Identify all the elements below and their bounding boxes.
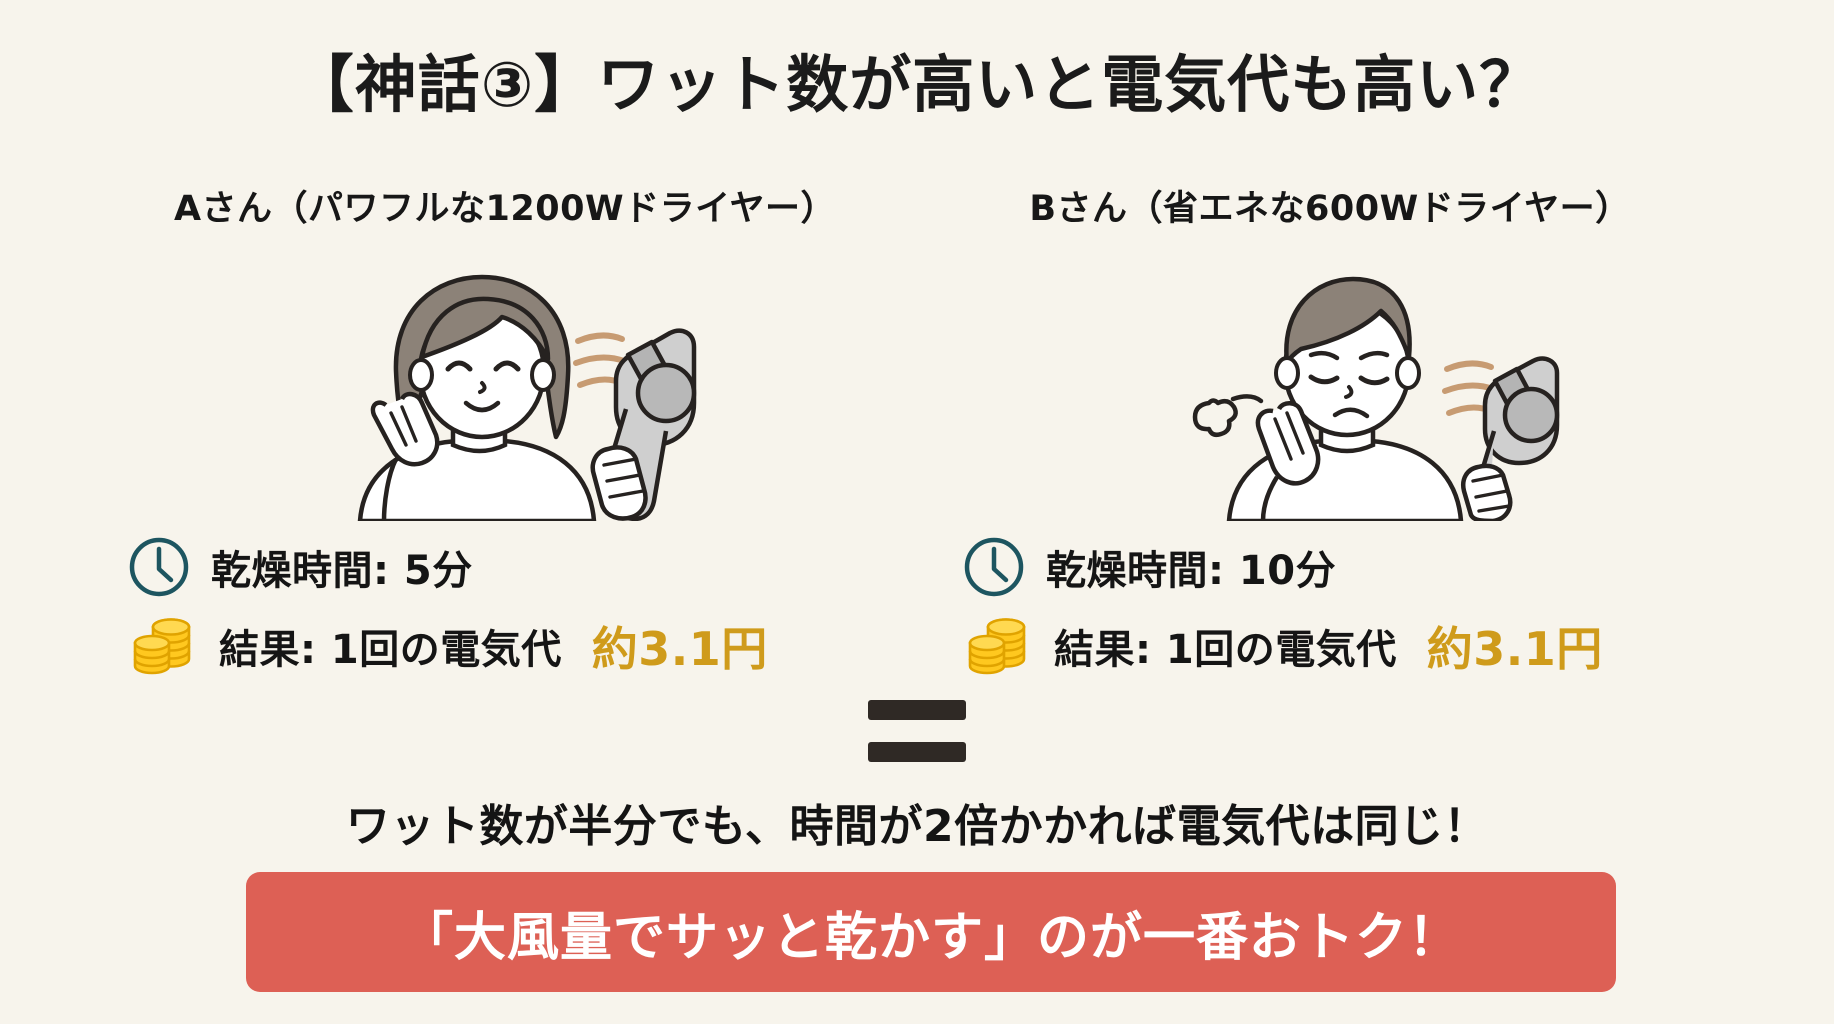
panel-a-cost-amount: 約3.1円 <box>592 613 768 679</box>
infographic-page: 【神話③】ワット数が高いと電気代も高い？ Aさん（パワフルな1200Wドライヤー… <box>0 0 1834 1024</box>
equals-sign-icon <box>868 700 966 762</box>
conclusion-text: ワット数が半分でも、時間が2倍かかれば電気代は同じ！ <box>0 790 1834 854</box>
highlight-banner-text: 「大風量でサッと乾かす」のが一番おトク！ <box>401 895 1461 970</box>
panel-person-a: Aさん（パワフルな1200Wドライヤー） <box>75 180 935 679</box>
panel-b-cost-row: 結果: 1回の電気代 約3.1円 <box>900 613 1760 679</box>
clock-icon <box>127 535 191 599</box>
equals-bar-bottom <box>868 742 966 762</box>
clock-icon <box>962 535 1026 599</box>
panel-b-cost-amount: 約3.1円 <box>1427 613 1603 679</box>
page-title: 【神話③】ワット数が高いと電気代も高い？ <box>0 34 1834 124</box>
panel-a-cost-row: 結果: 1回の電気代 約3.1円 <box>75 613 935 679</box>
panel-b-dry-time-row: 乾燥時間: 10分 <box>900 535 1760 599</box>
woman-with-hairdryer-illustration <box>290 253 720 521</box>
panel-a-cost-label: 結果: 1回の電気代 <box>219 617 562 675</box>
panel-b-cost-label: 結果: 1回の電気代 <box>1054 617 1397 675</box>
panel-a-heading: Aさん（パワフルな1200Wドライヤー） <box>75 180 935 231</box>
panel-b-heading: Bさん（省エネな600Wドライヤー） <box>900 180 1760 231</box>
panel-a-dry-time-row: 乾燥時間: 5分 <box>75 535 935 599</box>
coins-icon <box>962 613 1034 679</box>
panel-b-dry-time-label: 乾燥時間: 10分 <box>1046 538 1336 596</box>
equals-bar-top <box>868 700 966 720</box>
panel-b-illustration-wrap <box>900 253 1760 521</box>
man-with-hairdryer-illustration <box>1151 253 1581 521</box>
coins-icon <box>127 613 199 679</box>
highlight-banner: 「大風量でサッと乾かす」のが一番おトク！ <box>246 872 1616 992</box>
panel-a-dry-time-label: 乾燥時間: 5分 <box>211 538 473 596</box>
panel-person-b: Bさん（省エネな600Wドライヤー） <box>900 180 1760 679</box>
panel-a-illustration-wrap <box>75 253 935 521</box>
